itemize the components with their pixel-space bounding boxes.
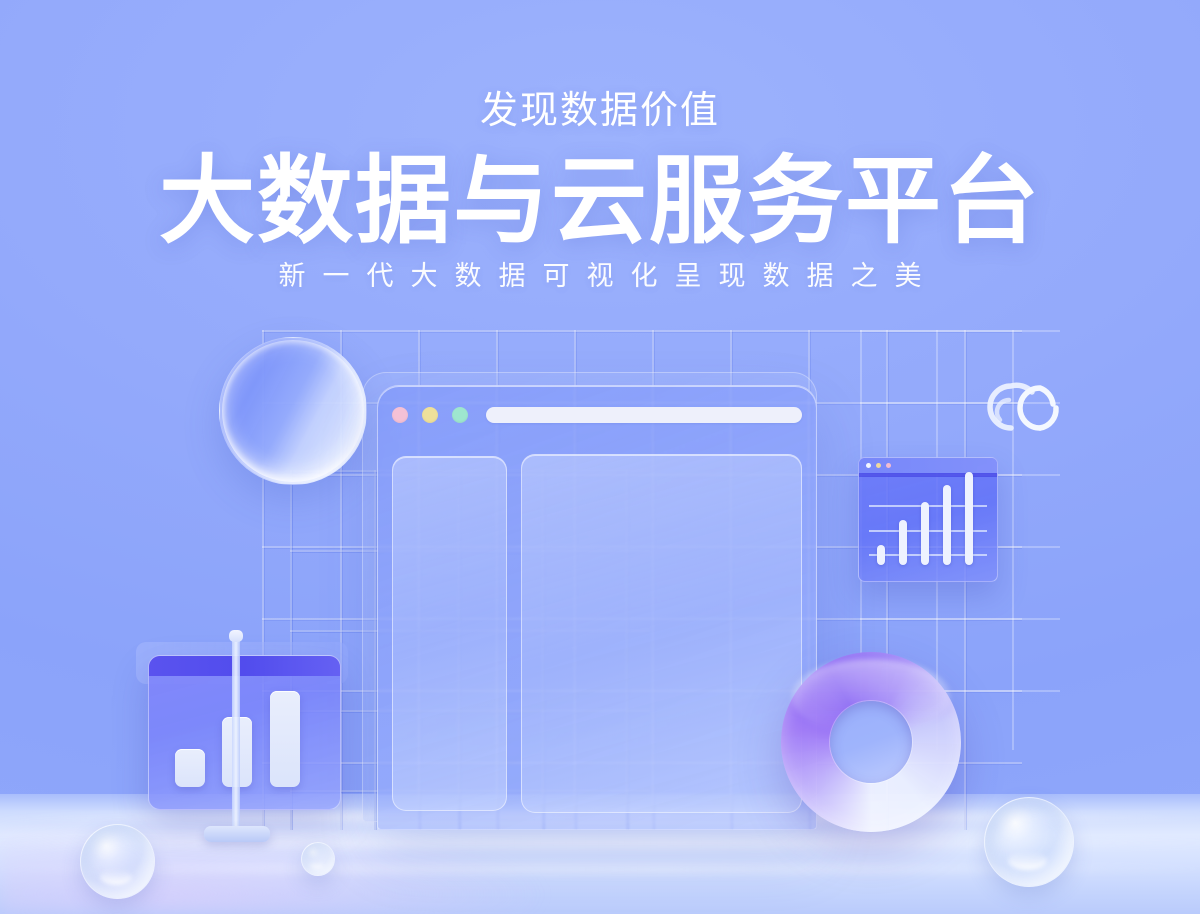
display-stand-pole <box>232 636 240 834</box>
maximize-dot-icon[interactable] <box>452 407 468 423</box>
mini-dot-yellow-icon <box>876 463 881 468</box>
glass-sphere-right <box>984 797 1074 887</box>
close-dot-icon[interactable] <box>392 407 408 423</box>
mini-dot-white-icon <box>866 463 871 468</box>
hero-tagline: 新一代大数据可视化呈现数据之美 <box>0 263 1200 290</box>
glass-disc-rim <box>222 340 364 482</box>
minimize-dot-icon[interactable] <box>422 407 438 423</box>
glass-sphere-mid <box>301 842 335 876</box>
mini-bar-1 <box>877 545 885 565</box>
bar-chart-card[interactable] <box>148 655 341 810</box>
content-panel[interactable] <box>521 454 802 813</box>
cloud-icon <box>978 368 1064 438</box>
mini-bar-2 <box>899 520 907 565</box>
mini-bar-3 <box>921 502 929 565</box>
glass-disc <box>219 337 367 485</box>
mini-bar-chart-window[interactable] <box>858 457 998 582</box>
mini-window-title-bar <box>859 458 997 473</box>
url-input[interactable] <box>486 407 802 423</box>
display-stand-base <box>204 826 270 842</box>
browser-title-bar <box>378 386 816 444</box>
glass-donut <box>781 652 961 832</box>
sphere-highlight <box>100 869 132 885</box>
display-stand-cap <box>229 630 243 642</box>
hero-eyebrow: 发现数据价值 <box>0 92 1200 130</box>
bar-1 <box>175 749 205 787</box>
glass-sphere-left <box>80 824 155 899</box>
page-title: 大数据与云服务平台 <box>0 152 1200 253</box>
donut-hole <box>830 701 912 783</box>
hero-banner: 发现数据价值 大数据与云服务平台 新一代大数据可视化呈现数据之美 <box>0 0 1200 914</box>
browser-mockup[interactable] <box>377 385 817 830</box>
sphere-highlight <box>1008 851 1047 870</box>
bar-3 <box>270 691 300 787</box>
mini-window-accent-rule <box>859 473 997 477</box>
sphere-highlight <box>310 862 324 869</box>
mini-bar-5 <box>965 472 973 565</box>
hero-text-block: 发现数据价值 大数据与云服务平台 新一代大数据可视化呈现数据之美 <box>0 0 1200 290</box>
mini-dot-pink-icon <box>886 463 891 468</box>
sidebar-panel[interactable] <box>392 456 507 811</box>
mini-bar-4 <box>943 485 951 565</box>
bar-chart-card-header <box>149 656 340 676</box>
